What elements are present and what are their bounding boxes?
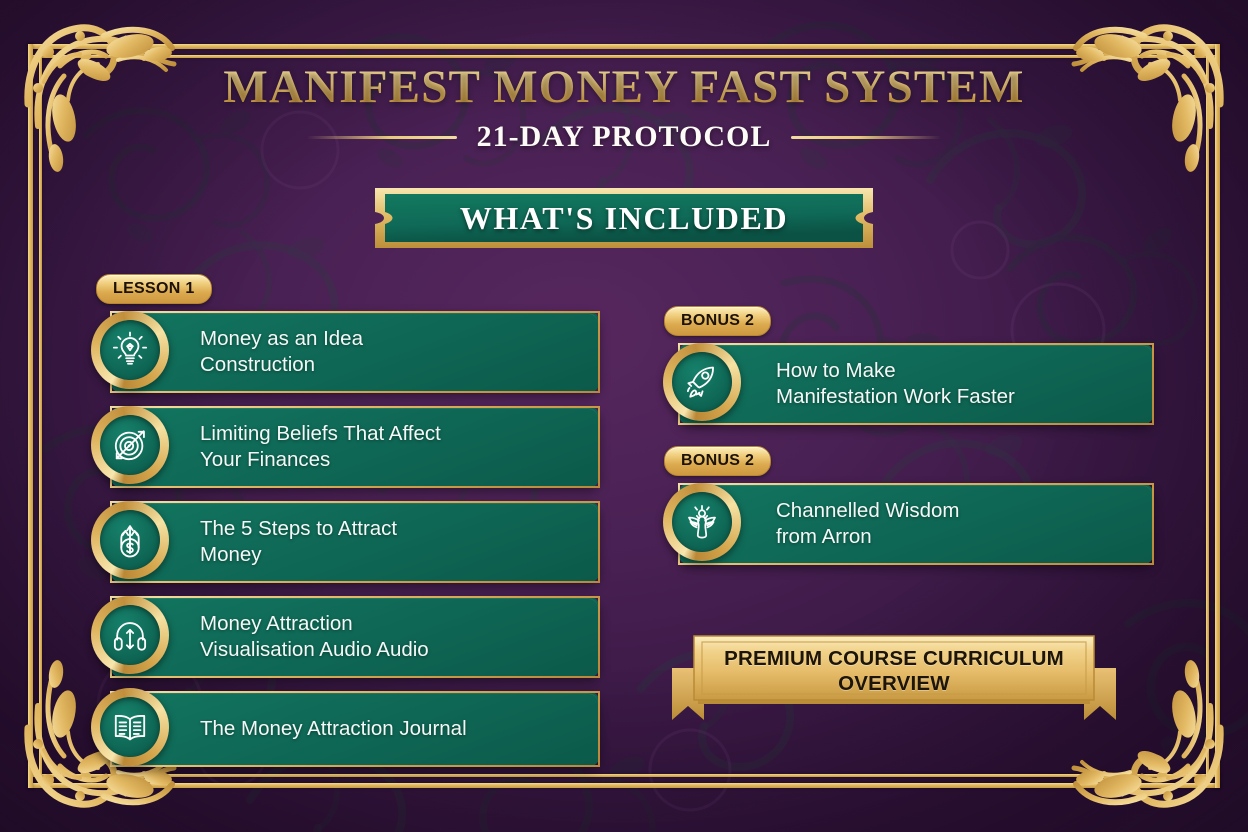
- subtitle-rule-left: [307, 136, 457, 139]
- lesson-card-4-text: Money Attraction Visualisation Audio Aud…: [200, 611, 429, 663]
- bonus-card-1-line1: How to Make: [776, 358, 1015, 384]
- frame-rule-right: [1215, 44, 1220, 788]
- lesson-card-3-text: The 5 Steps to Attract Money: [200, 516, 397, 568]
- frame-rule-left: [28, 44, 33, 788]
- lesson-card-4[interactable]: Money Attraction Visualisation Audio Aud…: [110, 596, 600, 678]
- lesson-card-5[interactable]: The Money Attraction Journal: [110, 691, 600, 767]
- headphones-audio-icon: [91, 596, 169, 674]
- lesson-card-1-line2: Construction: [200, 352, 363, 378]
- lesson-card-2-line1: Limiting Beliefs That Affect: [200, 421, 441, 447]
- bonus-card-2-line2: from Arron: [776, 524, 959, 550]
- frame-rule-top-inner: [28, 55, 1220, 58]
- lesson-card-1-text: Money as an Idea Construction: [200, 326, 363, 378]
- lesson-card-3[interactable]: The 5 Steps to Attract Money: [110, 501, 600, 583]
- bonus-card-1[interactable]: How to Make Manifestation Work Faster: [678, 343, 1154, 425]
- open-book-icon: [91, 688, 169, 766]
- ribbon-line-2: OVERVIEW: [704, 671, 1084, 696]
- frame-rule-right-inner: [1206, 55, 1209, 777]
- lesson-card-2-line2: Your Finances: [200, 447, 441, 473]
- lesson-card-3-line1: The 5 Steps to Attract: [200, 516, 397, 542]
- target-arrow-icon: [91, 406, 169, 484]
- bonus-card-2-text: Channelled Wisdom from Arron: [776, 498, 959, 550]
- bonus-card-1-line2: Manifestation Work Faster: [776, 384, 1015, 410]
- frame-rule-left-inner: [39, 55, 42, 777]
- page-title: MANIFEST MONEY FAST SYSTEM: [0, 60, 1248, 114]
- bonus-card-2[interactable]: Channelled Wisdom from Arron: [678, 483, 1154, 565]
- subtitle-row: 21-DAY PROTOCOL: [0, 120, 1248, 154]
- lightbulb-idea-icon: [91, 311, 169, 389]
- lesson-card-3-line2: Money: [200, 542, 397, 568]
- poster-canvas: MANIFEST MONEY FAST SYSTEM 21-DAY PROTOC…: [0, 0, 1248, 832]
- ribbon-text: PREMIUM COURSE CURRICULUM OVERVIEW: [704, 646, 1084, 697]
- page-subtitle: 21-DAY PROTOCOL: [477, 120, 772, 154]
- lesson-card-1[interactable]: Money as an Idea Construction: [110, 311, 600, 393]
- frame-rule-bottom: [28, 783, 1220, 788]
- frame-rule-top: [28, 44, 1220, 49]
- rocket-icon: [663, 343, 741, 421]
- badge-lesson-1: LESSON 1: [96, 274, 212, 304]
- lesson-card-1-line1: Money as an Idea: [200, 326, 363, 352]
- frame-rule-bottom-inner: [28, 774, 1220, 777]
- lesson-card-4-line2: Visualisation Audio Audio: [200, 637, 429, 663]
- lesson-card-2-text: Limiting Beliefs That Affect Your Financ…: [200, 421, 441, 473]
- lesson-card-5-text: The Money Attraction Journal: [200, 716, 467, 742]
- badge-bonus-2: BONUS 2: [664, 446, 771, 476]
- bonus-card-2-line1: Channelled Wisdom: [776, 498, 959, 524]
- banner-label: WHAT'S INCLUDED: [369, 184, 879, 252]
- whats-included-banner: WHAT'S INCLUDED: [369, 184, 879, 252]
- bonus-card-1-text: How to Make Manifestation Work Faster: [776, 358, 1015, 410]
- lesson-card-4-line1: Money Attraction: [200, 611, 429, 637]
- premium-curriculum-ribbon: PREMIUM COURSE CURRICULUM OVERVIEW: [668, 628, 1120, 724]
- subtitle-rule-right: [791, 136, 941, 139]
- lesson-card-5-line1: The Money Attraction Journal: [200, 716, 467, 742]
- angel-wings-icon: [663, 483, 741, 561]
- badge-bonus-1: BONUS 2: [664, 306, 771, 336]
- ribbon-line-1: PREMIUM COURSE CURRICULUM: [704, 646, 1084, 671]
- lesson-card-2[interactable]: Limiting Beliefs That Affect Your Financ…: [110, 406, 600, 488]
- dollar-coin-arrows-icon: [91, 501, 169, 579]
